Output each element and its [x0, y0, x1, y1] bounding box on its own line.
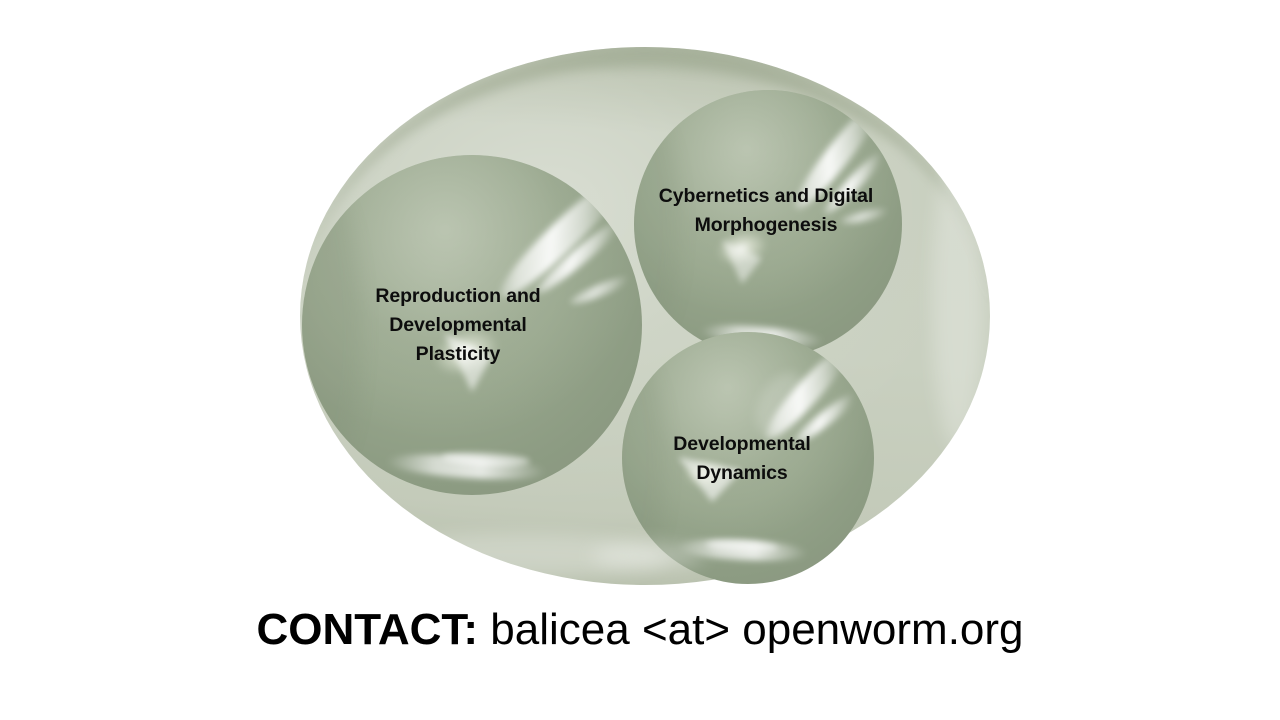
contact-email-value: balicea <at> openworm.org	[490, 605, 1023, 654]
slide-canvas: Reproduction and Developmental Plasticit…	[0, 0, 1280, 720]
contact-line: CONTACT: balicea <at> openworm.org	[0, 602, 1280, 658]
contact-label: CONTACT:	[256, 605, 478, 654]
